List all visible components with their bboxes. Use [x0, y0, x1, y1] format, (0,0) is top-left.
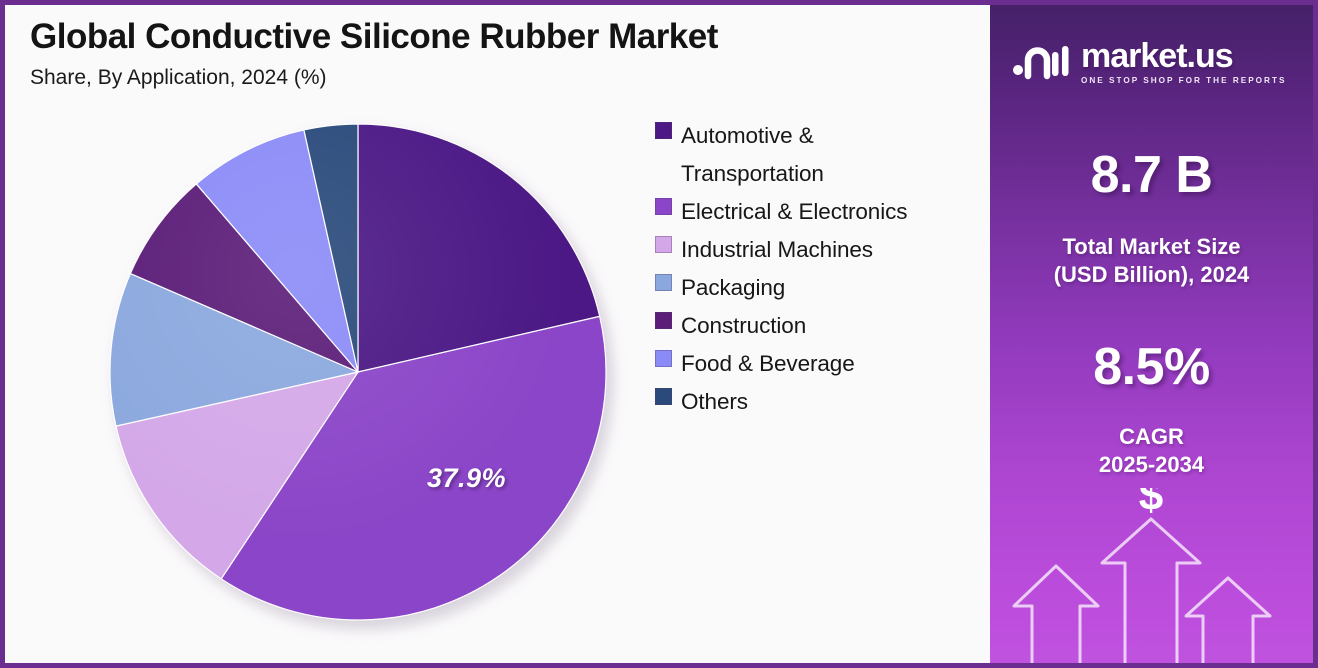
chart-legend: Automotive & TransportationElectrical & … — [655, 117, 975, 421]
legend-swatch-icon — [655, 350, 672, 367]
logo-text: market.us ONE STOP SHOP FOR THE REPORTS — [1081, 37, 1286, 85]
arrow-left-icon — [1014, 566, 1098, 663]
legend-item-label: Automotive & Transportation — [681, 117, 824, 193]
pie-data-label: 37.9% — [427, 463, 506, 494]
legend-swatch-icon — [655, 312, 672, 329]
chart-panel: Global Conductive Silicone Rubber Market… — [5, 5, 990, 663]
brand-logo[interactable]: market.us ONE STOP SHOP FOR THE REPORTS — [1012, 33, 1297, 89]
legend-item[interactable]: Industrial Machines — [655, 231, 975, 269]
legend-swatch-icon — [655, 388, 672, 405]
pie-chart: 37.9% — [109, 123, 615, 629]
legend-item-label: Construction — [681, 307, 806, 345]
legend-swatch-icon — [655, 198, 672, 215]
logo-wordmark: market.us — [1081, 39, 1286, 73]
logo-tagline: ONE STOP SHOP FOR THE REPORTS — [1081, 76, 1286, 85]
legend-item-label: Electrical & Electronics — [681, 193, 907, 231]
legend-item[interactable]: Automotive & Transportation — [655, 117, 975, 193]
legend-item-label: Packaging — [681, 269, 785, 307]
legend-swatch-icon — [655, 122, 672, 139]
dollar-sign-icon: $ — [1139, 488, 1163, 520]
market-us-logo-icon — [1012, 38, 1072, 84]
legend-item-label: Food & Beverage — [681, 345, 855, 383]
page-title: Global Conductive Silicone Rubber Market — [30, 17, 960, 57]
legend-item[interactable]: Electrical & Electronics — [655, 193, 975, 231]
cagr-label: CAGR 2025-2034 — [990, 423, 1313, 478]
legend-swatch-icon — [655, 236, 672, 253]
arrow-right-icon — [1186, 578, 1270, 663]
legend-item[interactable]: Food & Beverage — [655, 345, 975, 383]
pie-disc — [109, 123, 607, 621]
legend-item-label: Others — [681, 383, 748, 421]
infographic-frame: Global Conductive Silicone Rubber Market… — [0, 0, 1318, 668]
legend-item[interactable]: Construction — [655, 307, 975, 345]
growth-arrows-graphic: $ — [990, 488, 1313, 663]
legend-item[interactable]: Others — [655, 383, 975, 421]
cagr-value: 8.5% — [990, 337, 1313, 397]
title-block: Global Conductive Silicone Rubber Market… — [30, 17, 960, 90]
side-panel: market.us ONE STOP SHOP FOR THE REPORTS … — [990, 5, 1313, 663]
market-size-value: 8.7 B — [990, 145, 1313, 205]
pie-svg — [109, 123, 607, 621]
legend-item-label: Industrial Machines — [681, 231, 873, 269]
legend-item[interactable]: Packaging — [655, 269, 975, 307]
page-subtitle: Share, By Application, 2024 (%) — [30, 66, 960, 90]
arrow-center-icon — [1102, 519, 1200, 663]
market-size-label: Total Market Size (USD Billion), 2024 — [990, 233, 1313, 288]
pie-slices — [110, 124, 606, 620]
legend-swatch-icon — [655, 274, 672, 291]
